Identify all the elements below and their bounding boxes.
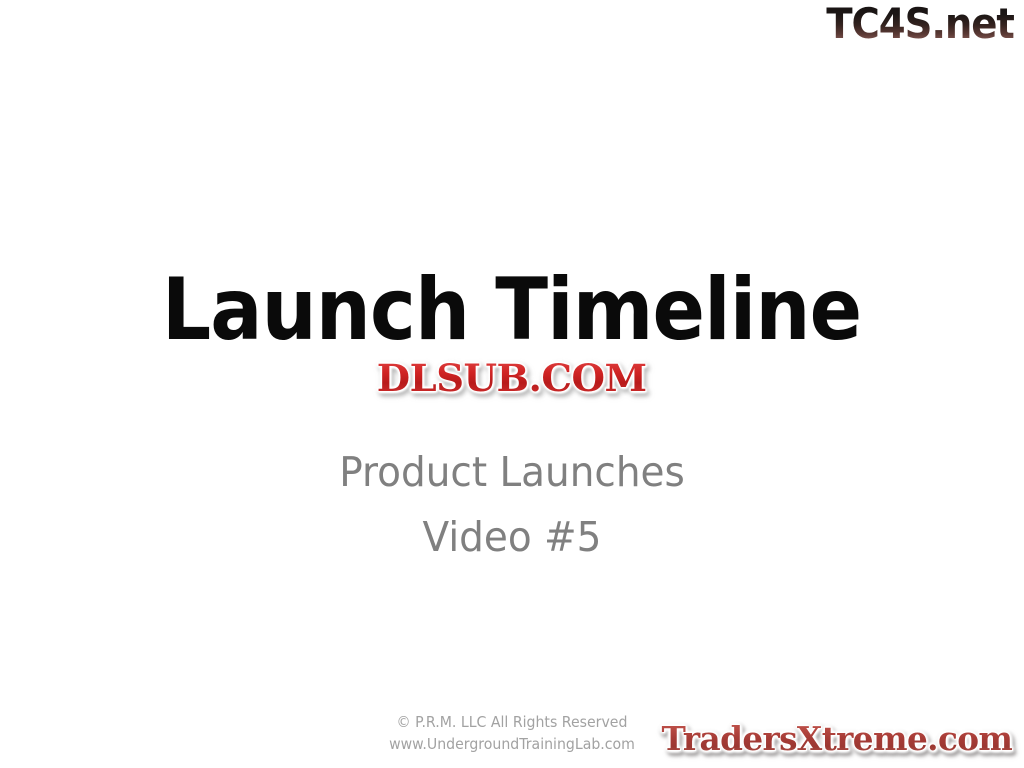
subtitle-block: Product Launches Video #5 [0, 440, 1024, 570]
page-title: Launch Timeline [162, 262, 861, 358]
dlsub-watermark: DLSUB.COM [377, 358, 647, 398]
subtitle-line-video-number: Video #5 [26, 505, 999, 570]
title-block: Launch Timeline [0, 262, 1024, 358]
tc4s-logo: TC4S.net [827, 2, 1014, 46]
subtitle-line-product-launches: Product Launches [26, 440, 999, 505]
slide-canvas: TC4S.net Launch Timeline DLSUB.COM Produ… [0, 0, 1024, 768]
tradersxtreme-logo: TradersXtreme.com [661, 720, 1012, 758]
watermark-block: DLSUB.COM [0, 358, 1024, 398]
